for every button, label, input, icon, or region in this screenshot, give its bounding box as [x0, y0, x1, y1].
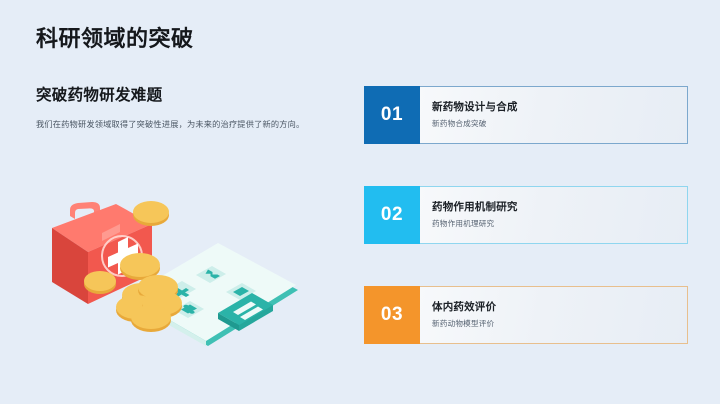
card-number-02: 02 — [364, 186, 420, 244]
feature-card-01[interactable]: 01 新药物设计与合成 新药物合成突破 — [364, 86, 688, 144]
card-body-03: 体内药效评价 新药动物模型评价 — [420, 286, 688, 344]
card-subtitle-03: 新药动物模型评价 — [432, 319, 675, 329]
card-title-02: 药物作用机制研究 — [432, 201, 675, 215]
feature-card-list: 01 新药物设计与合成 新药物合成突破 02 药物作用机制研究 药物作用机理研究… — [364, 86, 688, 344]
page-title: 科研领域的突破 — [36, 26, 194, 52]
slide-root: 科研领域的突破 突破药物研发难题 我们在药物研发领域取得了突破性进展，为未来的治… — [0, 0, 720, 404]
left-content-column: 突破药物研发难题 我们在药物研发领域取得了突破性进展，为未来的治疗提供了新的方向… — [36, 86, 336, 132]
feature-card-03[interactable]: 03 体内药效评价 新药动物模型评价 — [364, 286, 688, 344]
section-description: 我们在药物研发领域取得了突破性进展，为未来的治疗提供了新的方向。 — [36, 119, 336, 132]
card-subtitle-01: 新药物合成突破 — [432, 119, 675, 129]
card-number-01: 01 — [364, 86, 420, 144]
feature-card-02[interactable]: 02 药物作用机制研究 药物作用机理研究 — [364, 186, 688, 244]
illustration-container — [30, 186, 330, 376]
card-number-03: 03 — [364, 286, 420, 344]
card-title-01: 新药物设计与合成 — [432, 101, 675, 115]
section-heading: 突破药物研发难题 — [36, 86, 336, 106]
card-body-01: 新药物设计与合成 新药物合成突破 — [420, 86, 688, 144]
card-subtitle-02: 药物作用机理研究 — [432, 219, 675, 229]
card-title-03: 体内药效评价 — [432, 301, 675, 315]
medical-kit-coins-calculator-icon — [30, 186, 330, 376]
card-body-02: 药物作用机制研究 药物作用机理研究 — [420, 186, 688, 244]
